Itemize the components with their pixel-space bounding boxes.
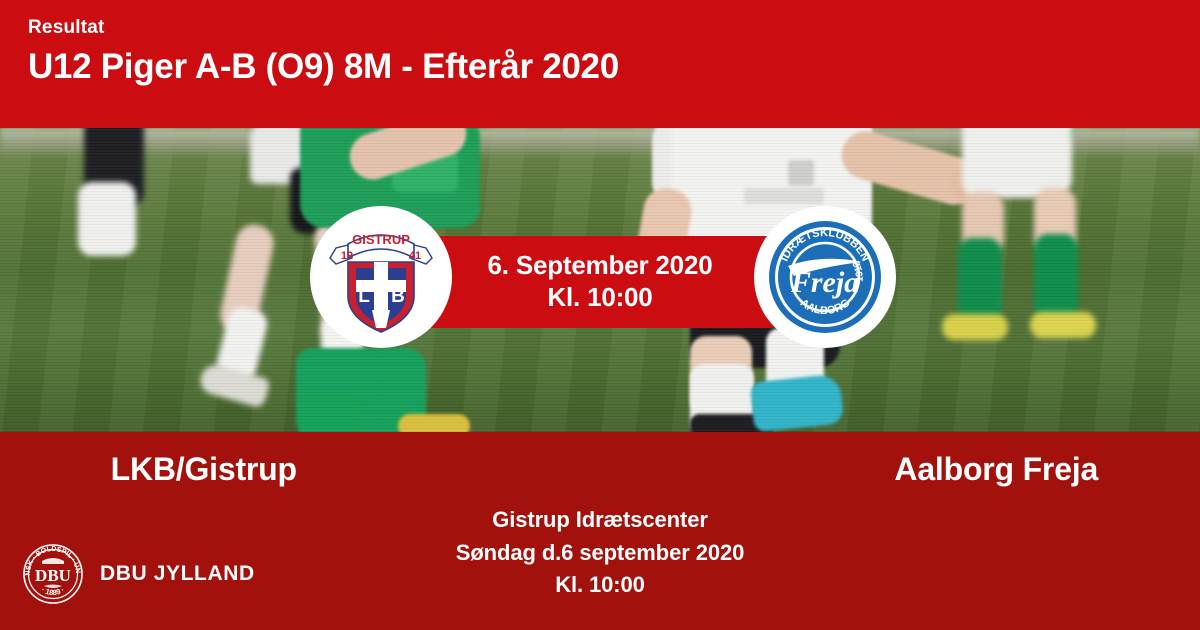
poster-header: Resultat U12 Piger A-B (O9) 8M - Efterår…	[0, 0, 1200, 128]
page-title: U12 Piger A-B (O9) 8M - Efterår 2020	[28, 49, 1200, 86]
dbu-emblem-icon: DANSK · BOLDSPIL · UNION · 1889 · DBU	[22, 543, 84, 605]
aalborg-freja-crest-icon: IDRÆTSKLUBBEN AALBORG 1912 Freja	[766, 218, 884, 336]
match-date: 6. September 2020	[488, 250, 713, 282]
away-team-name: Aalborg Freja	[603, 451, 1200, 488]
dbu-org-label: DBU JYLLAND	[100, 562, 255, 586]
home-team-name: LKB/Gistrup	[0, 451, 603, 488]
crest-letter-top: K	[374, 268, 388, 289]
crest-year-left: 19	[341, 250, 353, 262]
crest-letter-right: B	[391, 286, 405, 307]
away-team-logo: IDRÆTSKLUBBEN AALBORG 1912 Freja	[754, 206, 896, 348]
venue-name: Gistrup Idrætscenter	[0, 504, 1200, 537]
dbu-emblem-center-text: DBU	[35, 566, 71, 585]
freja-center-text: Freja	[790, 266, 859, 299]
match-result-poster: Resultat U12 Piger A-B (O9) 8M - Efterår…	[0, 0, 1200, 630]
lkb-gistrup-crest-icon: GISTRUP 19 41 K L B	[322, 218, 440, 336]
match-time: Kl. 10:00	[547, 282, 652, 314]
match-date-band: 6. September 2020 Kl. 10:00	[420, 236, 780, 328]
crest-letter-left: L	[358, 286, 370, 307]
header-kicker: Resultat	[28, 18, 1200, 39]
crest-banner-text: GISTRUP	[352, 232, 410, 247]
team-names-row: LKB/Gistrup Aalborg Freja	[0, 432, 1200, 506]
home-team-logo: GISTRUP 19 41 K L B	[310, 206, 452, 348]
crest-year-right: 41	[409, 250, 421, 262]
dbu-footer: DANSK · BOLDSPIL · UNION · 1889 · DBU DB…	[22, 543, 255, 605]
